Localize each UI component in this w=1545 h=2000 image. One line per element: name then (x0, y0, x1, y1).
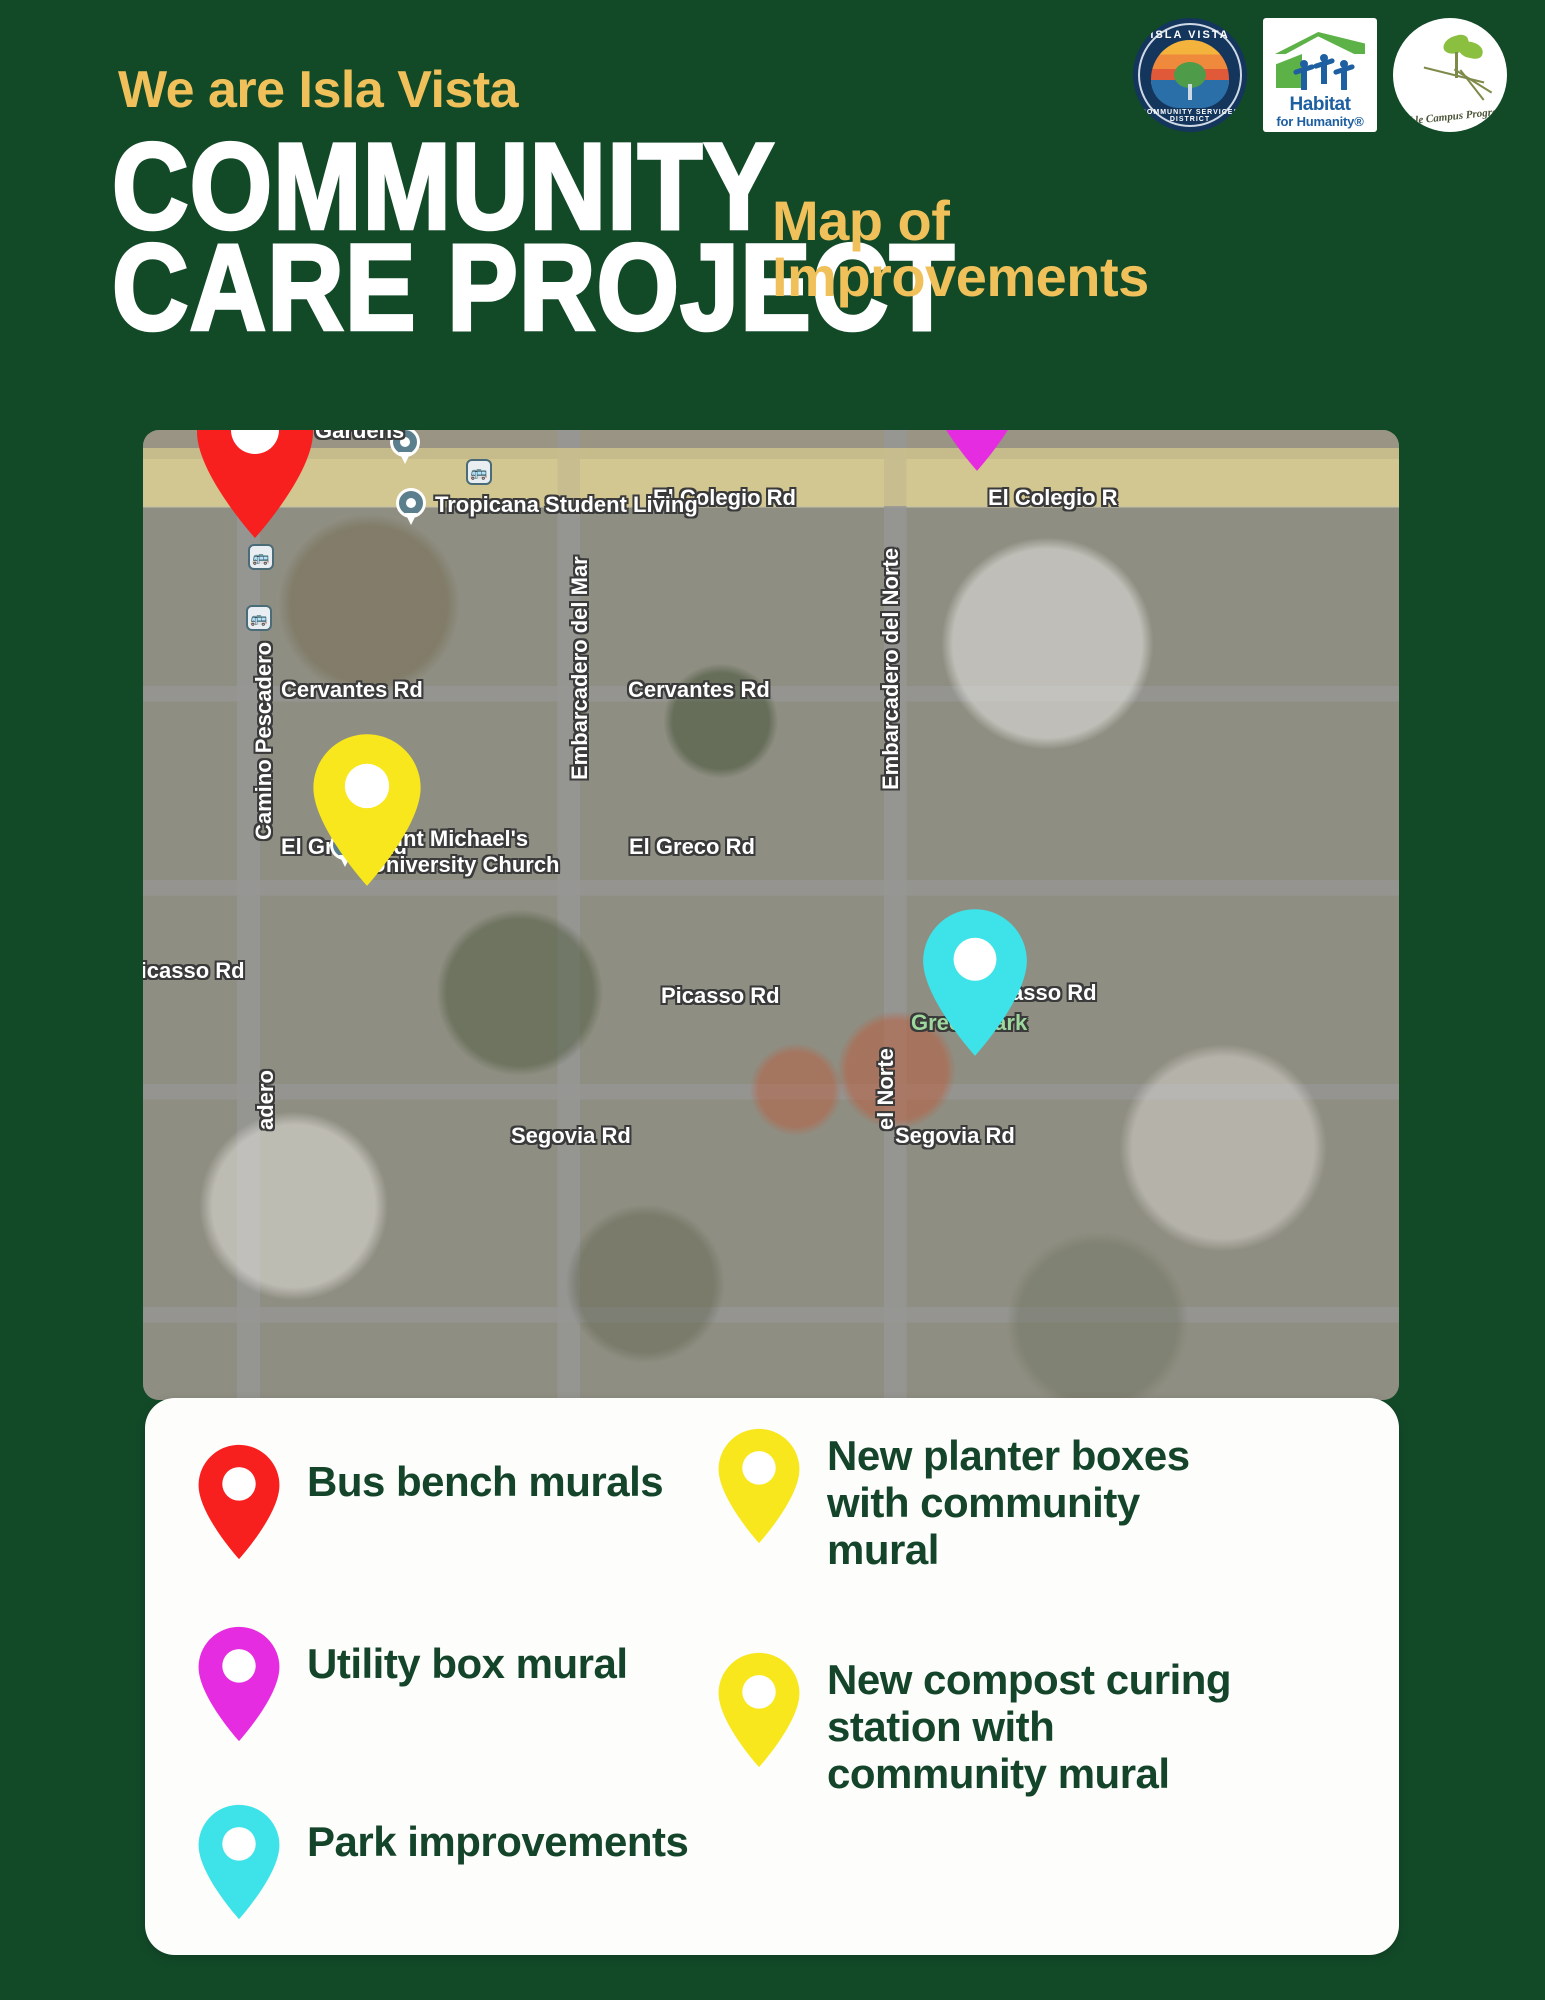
subtitle-line-2: Improvements (772, 249, 1532, 305)
street-label-camino-pescadero: Camino Pescadero (251, 642, 277, 840)
logo-top-text: ISLA VISTA (1133, 29, 1247, 41)
habitat-for-humanity-logo: Habitat for Humanity® (1263, 18, 1377, 132)
legend-grid: Bus bench murals Utility box mural (145, 1398, 1399, 1955)
bus-stop-icon[interactable]: 🚌 (246, 605, 272, 631)
map-pin-park-improvements[interactable] (916, 905, 1034, 1060)
street-label-picasso-rd-left: Picasso Rd (143, 958, 245, 984)
person-icon (1297, 54, 1311, 90)
legend-left-column: Bus bench murals Utility box mural (145, 1398, 713, 1955)
street-label-embarcadero-del-norte: Embarcadero del Norte (878, 548, 904, 790)
edible-campus-caption: Edible Campus Program (1393, 105, 1507, 129)
map-pin-utility-box[interactable] (918, 430, 1036, 475)
street-label-embarcadero-del-mar: Embarcadero del Mar (567, 556, 593, 780)
legend-label: New planter boxes with community mural (827, 1426, 1247, 1573)
person-icon (1337, 54, 1351, 90)
street-label-el-greco-rd-right: El Greco Rd (629, 834, 755, 860)
improvements-map[interactable]: El Colegio Rd El Colegio R Cervantes Rd … (143, 430, 1399, 1400)
street-label-picasso-rd-center: Picasso Rd (661, 983, 780, 1009)
subtitle-line-1: Map of (772, 193, 1532, 249)
street-label-adero-clipped: adero (253, 1070, 279, 1130)
poi-marker-tropicana-student-living[interactable] (396, 488, 426, 526)
logo-bottom-text: COMMUNITY SERVICES DISTRICT (1133, 109, 1247, 123)
pin-yellow-icon (713, 1650, 805, 1775)
pin-yellow-icon (713, 1426, 805, 1551)
legend-utility-box-mural[interactable]: Utility box mural (193, 1624, 628, 1749)
branch-icon (1454, 68, 1492, 93)
poster-header: We are Isla Vista COMMUNITY CARE PROJECT… (0, 0, 1545, 430)
legend-right-column: New planter boxes with community mural N… (713, 1398, 1399, 1955)
legend-park-improvements[interactable]: Park improvements (193, 1802, 688, 1927)
habitat-wordmark-line1: Habitat (1263, 94, 1377, 116)
street-label-segovia-rd-right: Segovia Rd (895, 1123, 1015, 1149)
poi-tail-icon (399, 452, 411, 464)
satellite-imagery (143, 430, 1399, 1400)
street-label-cervantes-rd: Cervantes Rd (281, 677, 423, 703)
isla-vista-community-services-district-logo: ISLA VISTA COMMUNITY SERVICES DISTRICT (1133, 18, 1247, 132)
map-pin-bus-bench[interactable] (189, 430, 321, 542)
street-label-el-colegio-rd-right: El Colegio R (988, 485, 1118, 511)
street-label-cervantes-rd-right: Cervantes Rd (628, 677, 770, 703)
leaf-icon (1458, 40, 1485, 61)
kicker-text: We are Isla Vista (118, 60, 518, 120)
edible-campus-program-logo: Edible Campus Program (1393, 18, 1507, 132)
partner-logos: ISLA VISTA COMMUNITY SERVICES DISTRICT H… (1133, 18, 1507, 132)
habitat-wordmark-line2: for Humanity® (1263, 114, 1377, 129)
legend-label: Park improvements (307, 1802, 688, 1865)
bus-stop-icon[interactable]: 🚌 (466, 459, 492, 485)
pin-red-icon (193, 1442, 285, 1567)
legend-new-compost-station[interactable]: New compost curing station with communit… (713, 1650, 1277, 1797)
legend-label: New compost curing station with communit… (827, 1650, 1277, 1797)
subtitle: Map of Improvements (772, 193, 1532, 305)
legend-bus-bench-murals[interactable]: Bus bench murals (193, 1442, 663, 1567)
person-icon (1317, 48, 1331, 84)
legend-new-planter-boxes[interactable]: New planter boxes with community mural (713, 1426, 1247, 1573)
street-label-el-norte-clipped: el Norte (873, 1048, 899, 1130)
tree-trunk-icon (1188, 84, 1192, 100)
pin-cyan-icon (193, 1802, 285, 1927)
legend-label: Bus bench murals (307, 1442, 663, 1505)
poi-tail-icon (405, 513, 417, 525)
bus-stop-icon[interactable]: 🚌 (248, 544, 274, 570)
poi-label-tropicana-student-living: Tropicana Student Living (435, 492, 698, 518)
street-label-segovia-rd: Segovia Rd (511, 1123, 631, 1149)
map-pin-planter-boxes[interactable] (306, 730, 428, 890)
legend-label: Utility box mural (307, 1624, 628, 1687)
pin-magenta-icon (193, 1624, 285, 1749)
people-icon (1297, 44, 1353, 90)
legend-card: Bus bench murals Utility box mural (145, 1398, 1399, 1955)
